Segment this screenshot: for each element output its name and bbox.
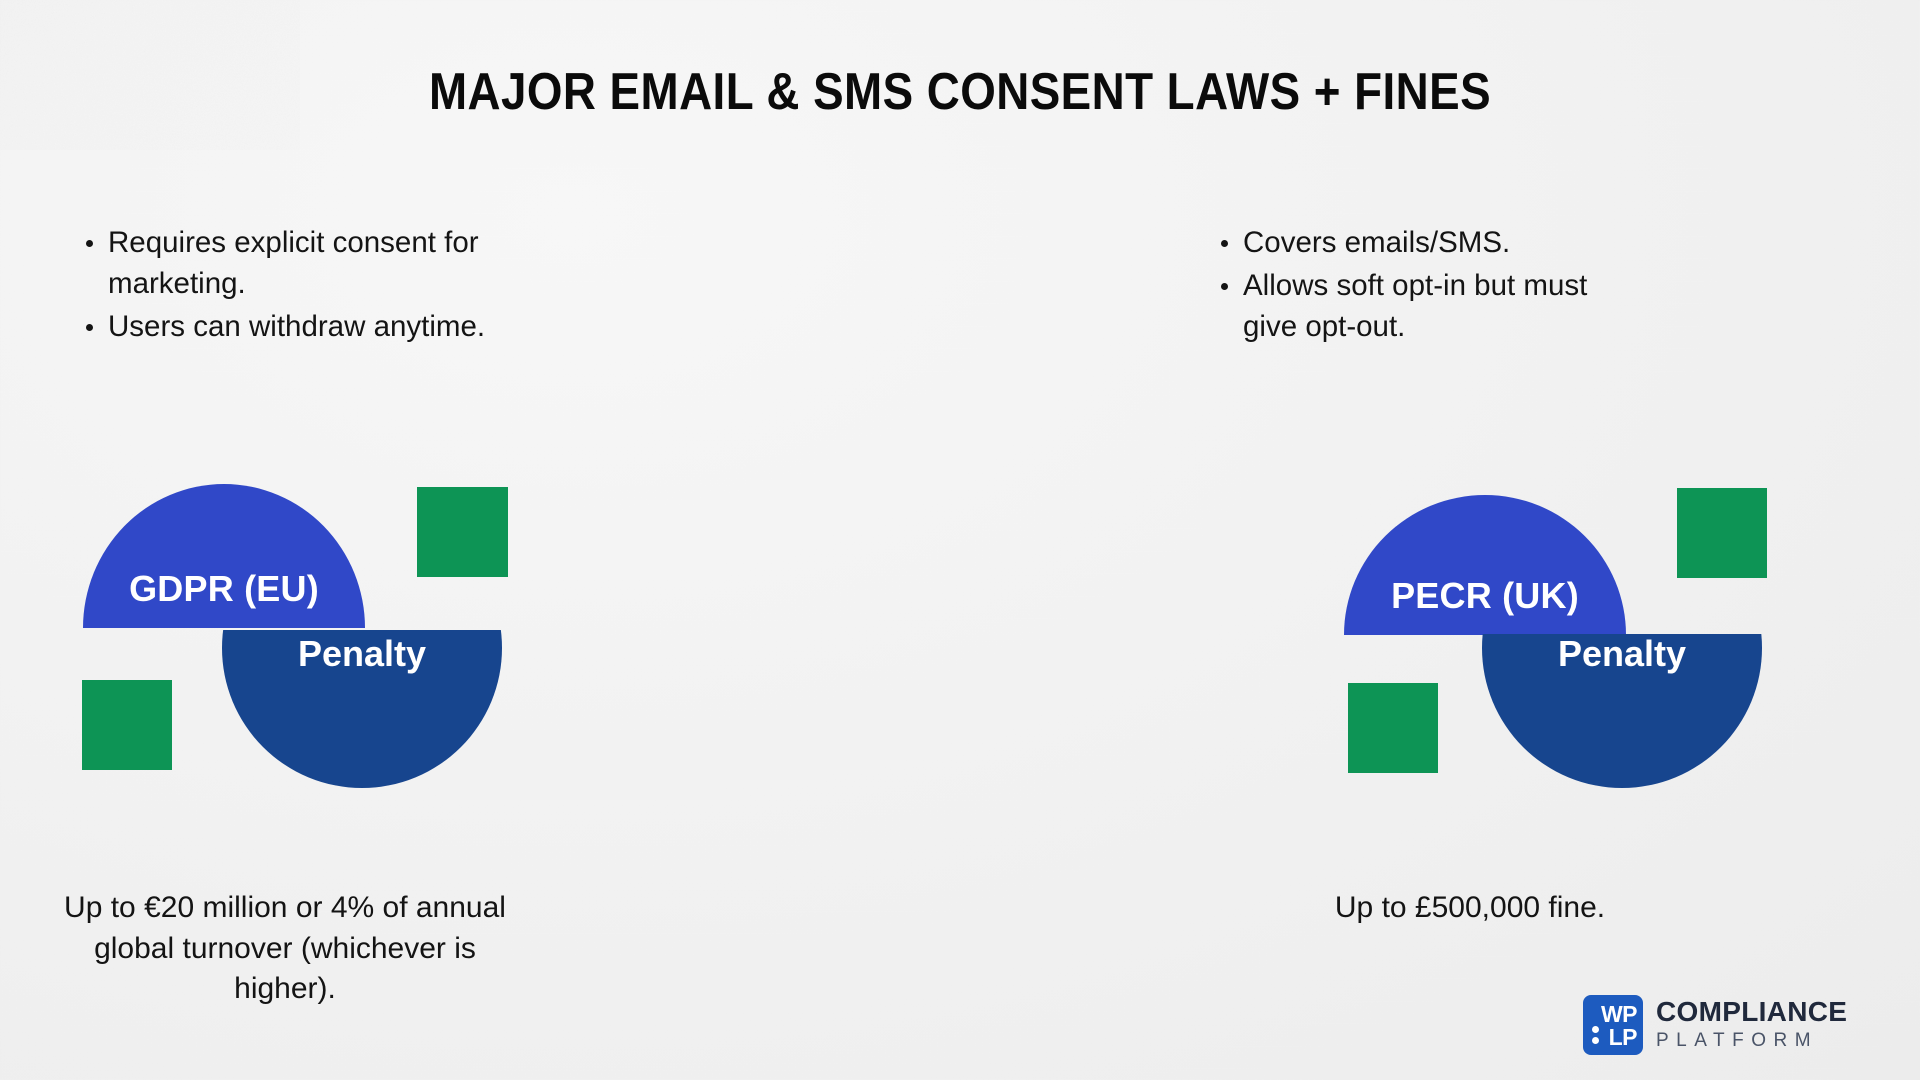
list-item: Users can withdraw anytime. — [78, 306, 498, 347]
logo-mark-bottom: LP — [1609, 1026, 1637, 1049]
caption-gdpr: Up to €20 million or 4% of annual global… — [40, 888, 530, 1010]
logo-dots-icon — [1592, 1026, 1599, 1044]
column-gdpr: Requires explicit consent for marketing.… — [0, 0, 600, 1080]
brand-name: COMPLIANCE — [1656, 997, 1847, 1026]
penalty-badge-label: Penalty — [298, 633, 426, 675]
column-canspam: Opt-out law (no consent needed). Must al… — [1200, 0, 1920, 1080]
wplp-logo-icon: WP LP — [1583, 995, 1643, 1055]
law-badge-gdpr: GDPR (EU) — [83, 484, 365, 628]
accent-square-top — [417, 487, 508, 577]
accent-square-bottom — [82, 680, 172, 770]
logo-mark-top: WP — [1601, 1003, 1637, 1026]
law-badge-label: GDPR (EU) — [129, 568, 319, 628]
bullet-list-gdpr: Requires explicit consent for marketing.… — [78, 222, 498, 349]
brand-subtitle: PLATFORM — [1656, 1030, 1847, 1053]
column-pecr: Covers emails/SMS. Allows soft opt-in bu… — [600, 0, 1200, 1080]
list-item: Requires explicit consent for marketing. — [78, 222, 498, 304]
brand-wordmark: COMPLIANCE PLATFORM — [1656, 997, 1847, 1052]
brand-logo: WP LP COMPLIANCE PLATFORM — [1583, 995, 1847, 1055]
